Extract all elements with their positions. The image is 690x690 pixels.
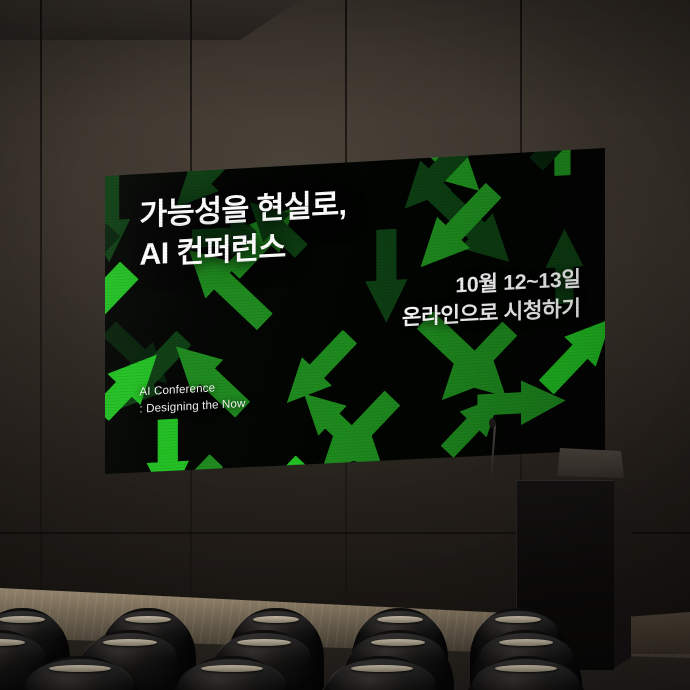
wall-seam: [40, 0, 42, 620]
chair-handle-slot: [237, 639, 291, 646]
chair-handle-slot: [377, 616, 423, 623]
chair-highlight: [178, 659, 286, 690]
slide-content: 가능성을 현실로, AI 컨퍼런스 10월 12~13일 온라인으로 시청하기 …: [104, 144, 608, 481]
chair-handle-slot: [103, 639, 157, 646]
microphone-icon: [489, 418, 496, 428]
arrow-glyph: [441, 404, 494, 458]
chair-handle-slot: [253, 616, 299, 623]
audience-chair: [318, 656, 446, 690]
chair-handle-slot: [125, 616, 171, 623]
arrow-glyph: [294, 330, 357, 395]
arrow-glyph: [376, 229, 396, 303]
arrow-glyph: [449, 321, 517, 391]
arrow-head: [545, 228, 583, 268]
arrow-glyph: [539, 327, 604, 394]
slide-headline: 가능성을 현실로, AI 컨퍼런스: [139, 185, 346, 275]
screen-surface: 가능성을 현실로, AI 컨퍼런스 10월 12~13일 온라인으로 시청하기 …: [104, 144, 608, 481]
chair-highlight: [472, 659, 580, 690]
slide-eyebrow: AI Conference : Designing the Now: [139, 379, 245, 420]
audience-chair: [16, 656, 144, 690]
chair-handle-slot: [495, 616, 541, 623]
chair-highlight: [328, 659, 436, 690]
chair-highlight: [26, 659, 134, 690]
slide-schedule: 10월 12~13일 온라인으로 시청하기: [402, 266, 581, 334]
chair-handle-slot: [371, 639, 425, 646]
led-presentation-screen[interactable]: 가능성을 현실로, AI 컨퍼런스 10월 12~13일 온라인으로 시청하기 …: [100, 140, 612, 485]
audience-chair: [168, 656, 296, 690]
audience-chair: [462, 656, 590, 690]
podium-top-panel: [557, 448, 624, 478]
chair-handle-slot: [499, 639, 553, 646]
chair-handle-slot: [0, 616, 45, 623]
podium-side: [614, 484, 631, 668]
conference-hall-scene: 가능성을 현실로, AI 컨퍼런스 10월 12~13일 온라인으로 시청하기 …: [0, 0, 690, 690]
